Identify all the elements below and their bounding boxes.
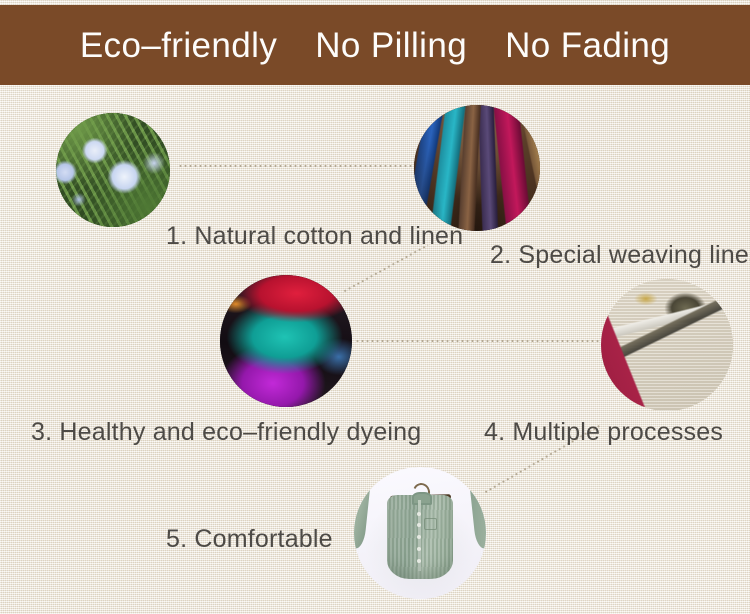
step-5-caption: 5. Comfortable — [166, 527, 333, 552]
dye-powders-artwork — [220, 275, 352, 407]
banner-word-no-pilling: No Pilling — [296, 28, 486, 63]
step-4-image-scissors-cutting-fabric — [601, 279, 733, 411]
infographic-poster: Eco–friendly No Pilling No Fading — [0, 0, 750, 614]
banner-word-eco-friendly: Eco–friendly — [61, 28, 296, 63]
shirt-sleeve-left — [354, 484, 370, 550]
header-banner-text-group: Eco–friendly No Pilling No Fading — [61, 28, 689, 63]
shirt-button — [417, 512, 421, 516]
linen-shirt-artwork — [354, 467, 486, 599]
shirt-sleeve-right — [470, 484, 486, 550]
banner-word-no-fading: No Fading — [486, 28, 689, 63]
connector-step3-step2 — [343, 244, 429, 293]
connector-step3-step4 — [355, 340, 601, 342]
header-banner: Eco–friendly No Pilling No Fading — [0, 5, 750, 85]
step-3-caption: 3. Healthy and eco–friendly dyeing — [31, 420, 421, 445]
thread-spools-artwork — [414, 105, 540, 231]
step-2-image-thread-spools — [414, 105, 540, 231]
step-4-caption: 4. Multiple processes — [484, 420, 723, 445]
scissors-cutting-fabric-artwork — [601, 279, 733, 411]
connector-step1-step2 — [178, 165, 418, 167]
step-5-image-linen-shirt — [354, 467, 486, 599]
step-3-image-dye-powders — [220, 275, 352, 407]
step-1-image-flax-flowers — [56, 113, 170, 227]
step-1-caption: 1. Natural cotton and linen — [166, 224, 463, 249]
shirt-pocket — [424, 518, 437, 530]
shirt-collar — [412, 492, 432, 505]
shirt-button — [417, 559, 421, 563]
step-2-caption: 2. Special weaving lines — [490, 243, 750, 268]
shirt-body — [387, 495, 453, 579]
flax-flowers-artwork — [56, 113, 170, 227]
